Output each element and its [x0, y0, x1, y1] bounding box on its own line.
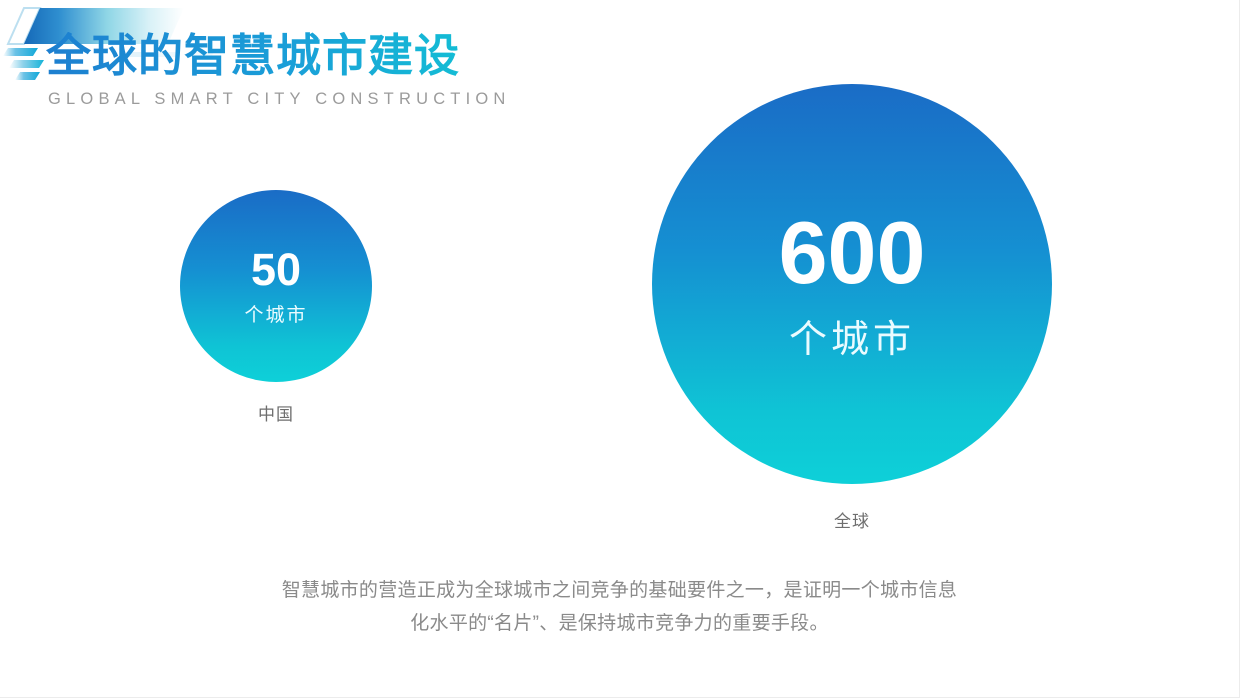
- footer-caption-line-1: 智慧城市的营造正成为全球城市之间竞争的基础要件之一，是证明一个城市信息: [0, 574, 1239, 607]
- accent-slash-2: [9, 60, 44, 68]
- bubble-china-unit: 个城市: [244, 306, 307, 325]
- page-subtitle: GLOBAL SMART CITY CONSTRUCTION: [48, 90, 686, 109]
- slide-root: 全球的智慧城市建设 GLOBAL SMART CITY CONSTRUCTION…: [0, 0, 1240, 698]
- bubble-group-china: 50 个城市 中国: [180, 190, 372, 425]
- bubble-global-unit: 个城市: [789, 321, 915, 359]
- bubble-china-number: 50: [251, 247, 301, 292]
- page-title: 全球的智慧城市建设: [46, 32, 686, 81]
- footer-caption: 智慧城市的营造正成为全球城市之间竞争的基础要件之一，是证明一个城市信息 化水平的…: [0, 574, 1239, 641]
- accent-slash-1: [3, 48, 38, 56]
- page-header: 全球的智慧城市建设 GLOBAL SMART CITY CONSTRUCTION: [46, 32, 686, 109]
- bubble-global: 600 个城市: [652, 84, 1052, 484]
- banner-outline-slash: [8, 8, 40, 44]
- bubble-group-global: 600 个城市 全球: [652, 84, 1052, 532]
- footer-caption-line-2: 化水平的“名片”、是保持城市竞争力的重要手段。: [0, 607, 1239, 640]
- bubble-china-caption: 中国: [180, 400, 372, 425]
- bubble-global-caption: 全球: [652, 507, 1052, 532]
- accent-slash-3: [15, 72, 40, 80]
- bubble-china: 50 个城市: [180, 190, 372, 382]
- bubble-global-number: 600: [779, 209, 926, 297]
